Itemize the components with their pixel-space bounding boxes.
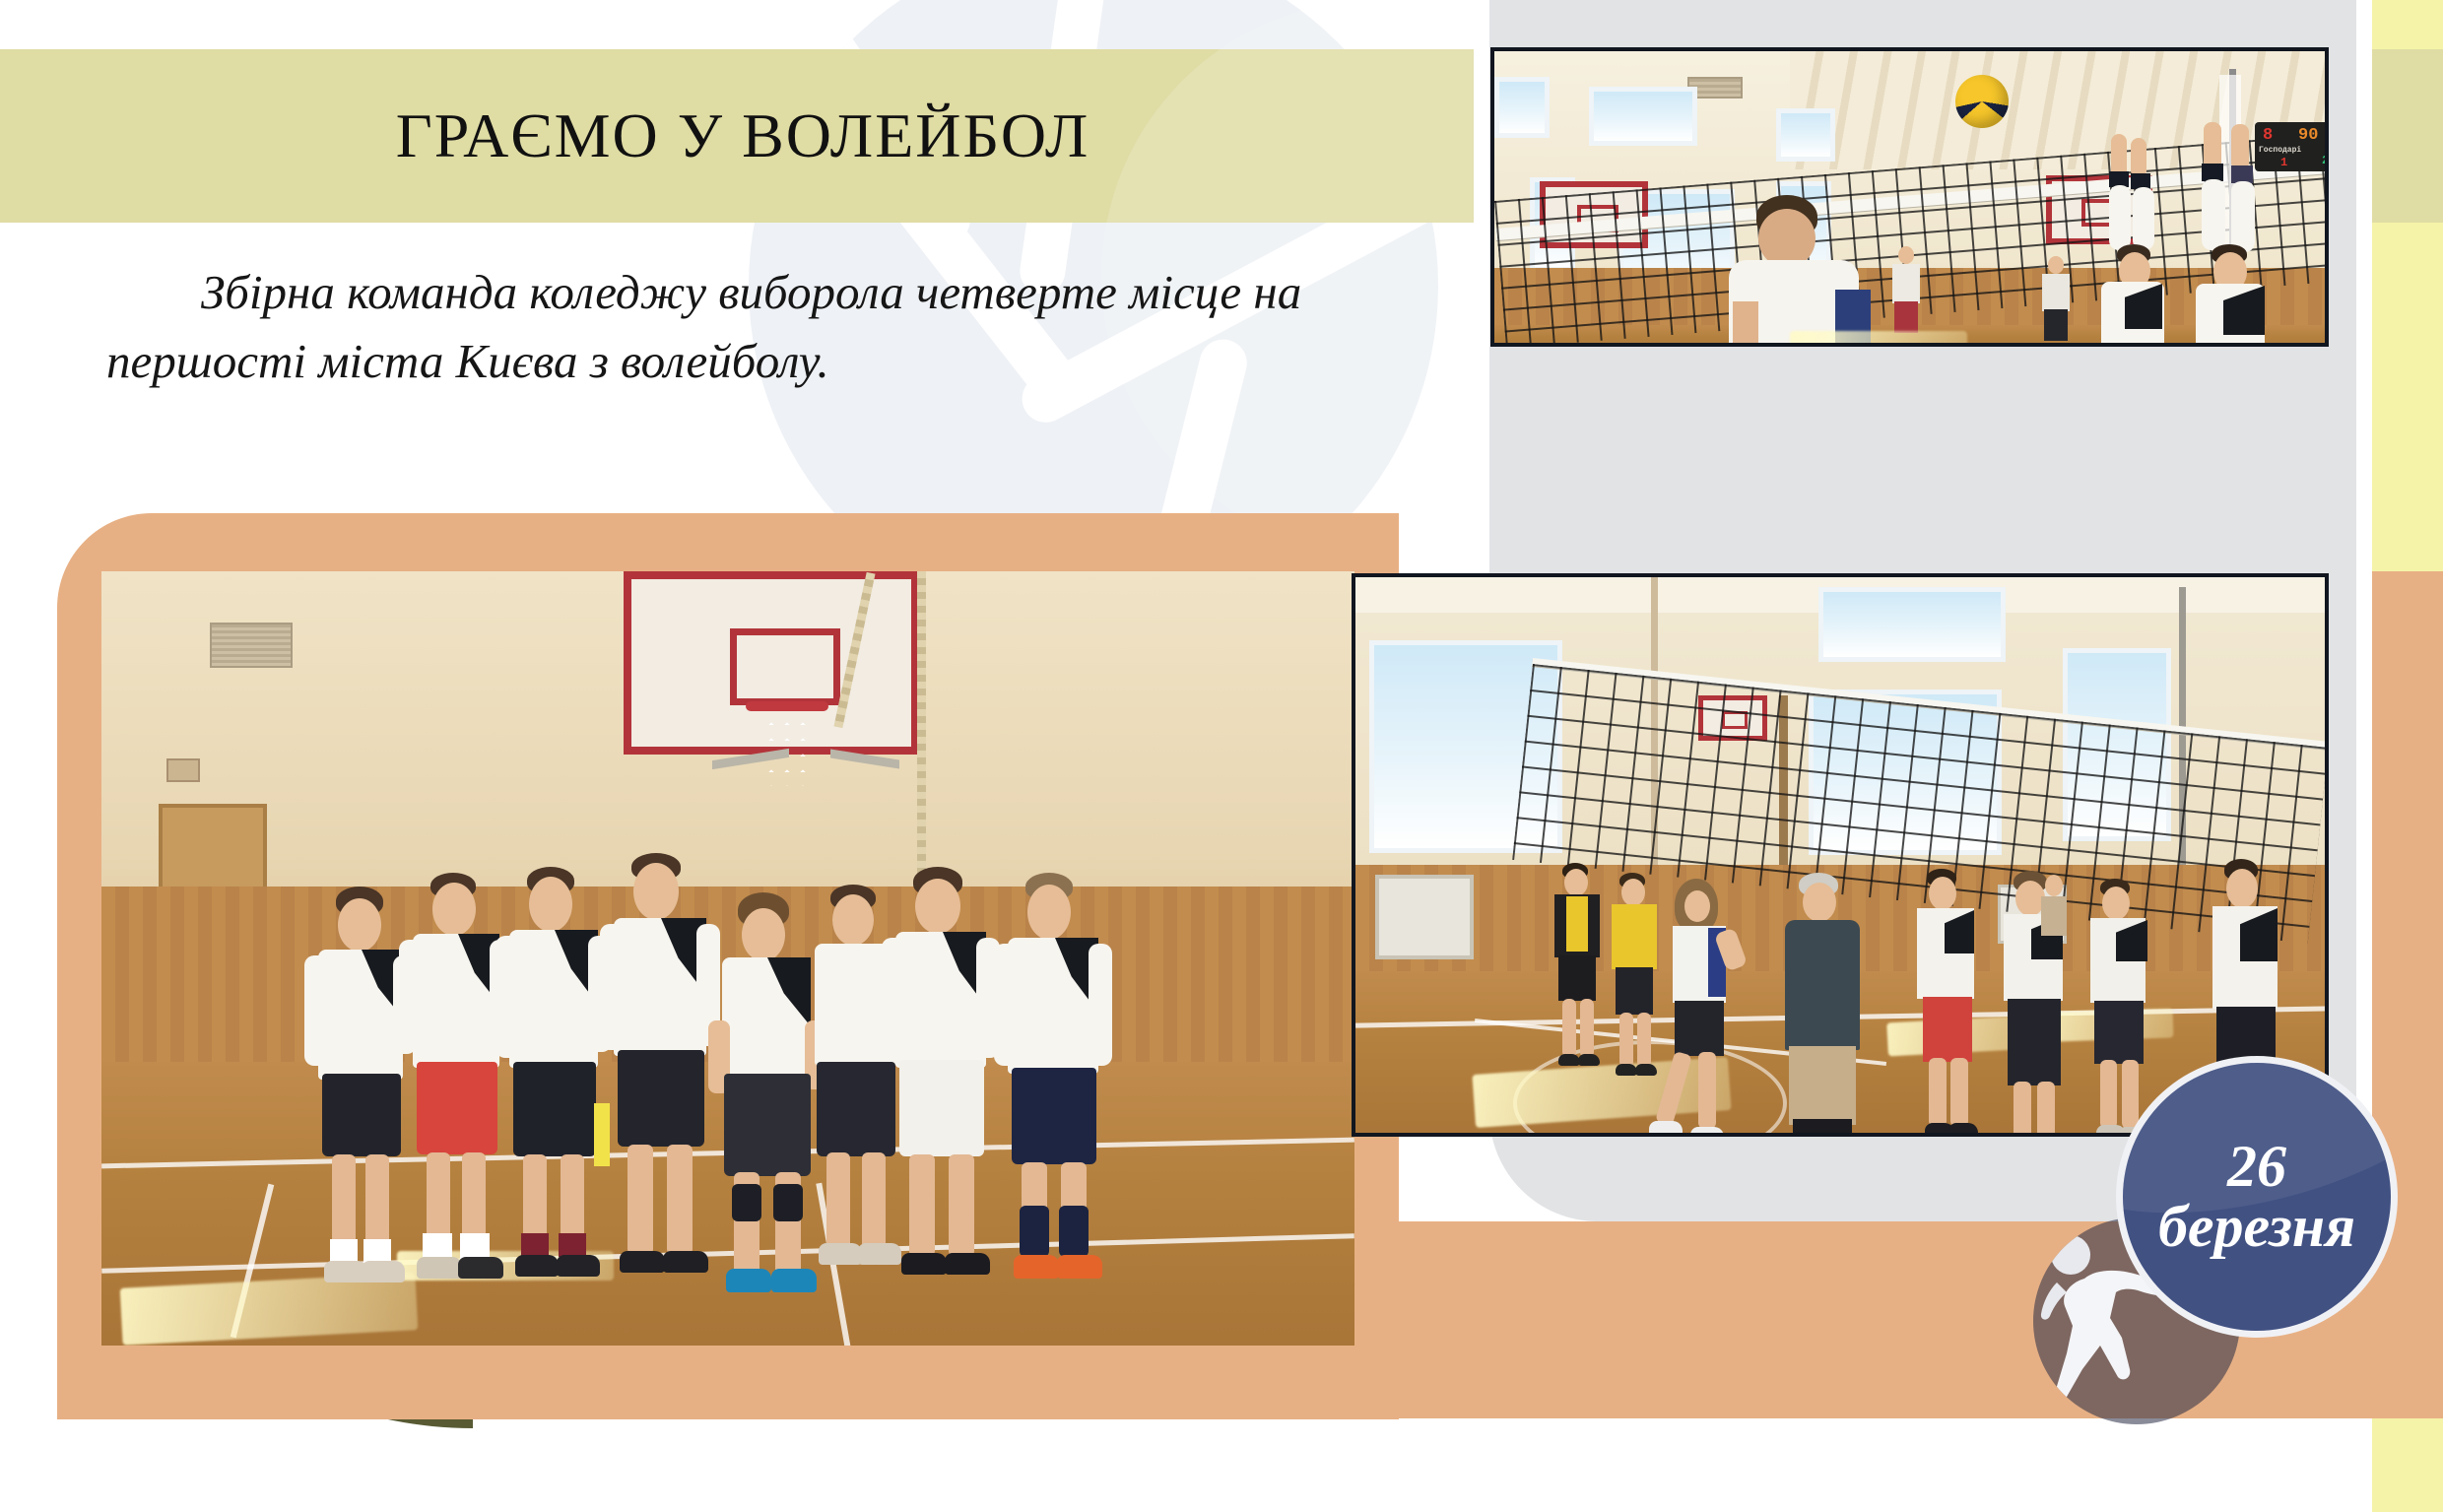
- right-strip-olive: [2372, 49, 2443, 223]
- photo-block-at-net: 8 90 Господарі 1 2: [1490, 47, 2329, 347]
- main-team-photo: [101, 571, 1354, 1346]
- badge-day: 26: [2227, 1137, 2286, 1196]
- page-title: ГРАЄМО У ВОЛЕЙБОЛ: [0, 49, 1486, 223]
- body-paragraph: Збірна команда коледжу виборола четверте…: [106, 258, 1466, 395]
- slide-canvas: ГРАЄМО У ВОЛЕЙБОЛ Збірна команда коледжу…: [0, 0, 2443, 1512]
- date-badge: 26 березня: [2116, 1056, 2398, 1338]
- photo-players-at-net: [1352, 573, 2329, 1137]
- right-strip-peach: [2372, 571, 2443, 1418]
- badge-month: березня: [2158, 1196, 2355, 1258]
